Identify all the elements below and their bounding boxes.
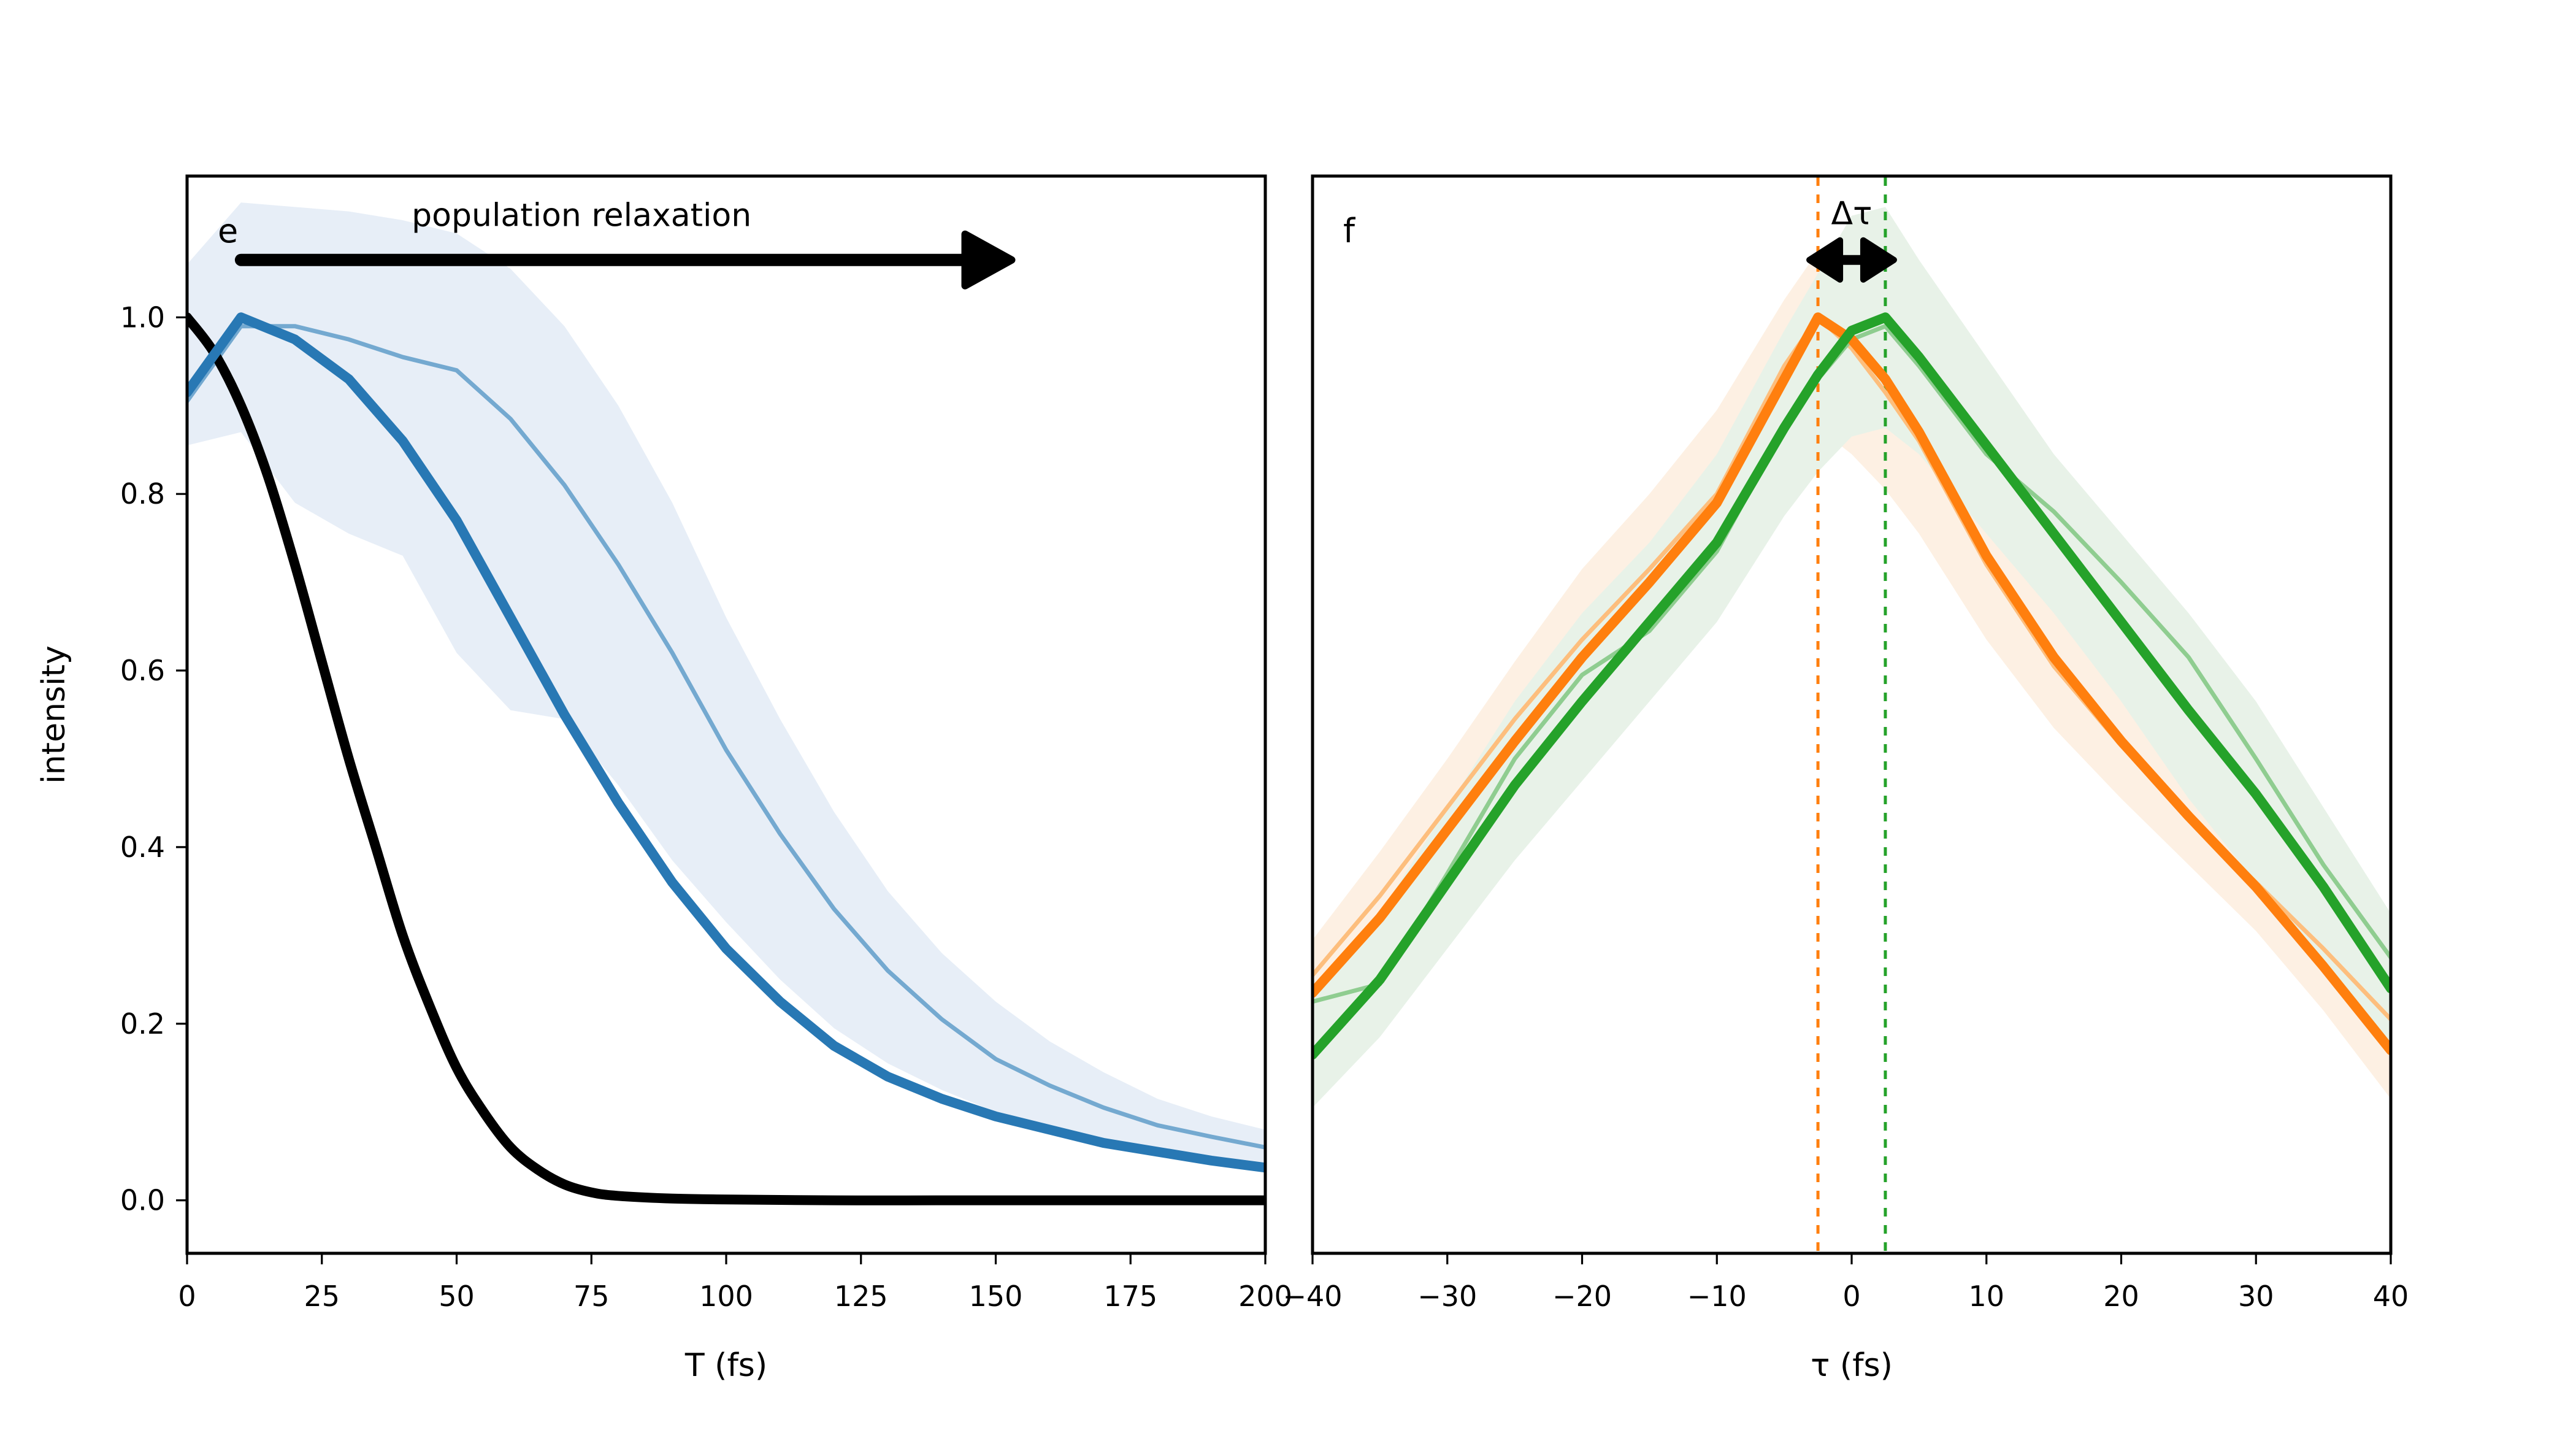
- y-tick-label: 0.8: [120, 477, 165, 510]
- x-tick-label: 75: [573, 1280, 610, 1313]
- x-axis-title-e: T (fs): [684, 1347, 767, 1384]
- x-tick-label: 100: [699, 1280, 753, 1313]
- x-tick-label: 125: [834, 1280, 888, 1313]
- y-tick-label: 1.0: [120, 301, 165, 334]
- y-tick-label: 0.0: [120, 1184, 165, 1217]
- x-tick-label: 30: [2238, 1280, 2274, 1313]
- figure-canvas: 02550751001251501752000.00.20.40.60.81.0…: [0, 0, 2576, 1449]
- x-tick-label: −10: [1687, 1280, 1747, 1313]
- x-tick-label: 50: [439, 1280, 475, 1313]
- figure-root: 02550751001251501752000.00.20.40.60.81.0…: [0, 0, 2576, 1449]
- x-axis-title-f: τ (fs): [1811, 1347, 1893, 1384]
- x-tick-label: 175: [1103, 1280, 1157, 1313]
- x-tick-label: 20: [2103, 1280, 2139, 1313]
- x-tick-label: 0: [1842, 1280, 1860, 1313]
- x-tick-label: 25: [304, 1280, 340, 1313]
- x-tick-label: 10: [1968, 1280, 2004, 1313]
- panel-letter-e: e: [218, 212, 238, 250]
- panel-letter-f: f: [1343, 212, 1356, 250]
- y-tick-label: 0.2: [120, 1007, 165, 1040]
- y-tick-label: 0.6: [120, 654, 165, 687]
- x-tick-label: 150: [969, 1280, 1023, 1313]
- x-tick-label: −20: [1552, 1280, 1612, 1313]
- delta-tau-label: Δτ: [1831, 196, 1873, 233]
- x-tick-label: −30: [1417, 1280, 1477, 1313]
- y-tick-label: 0.4: [120, 831, 165, 864]
- population-relaxation-label: population relaxation: [412, 198, 751, 234]
- y-axis-title-e: intensity: [36, 645, 72, 783]
- x-tick-label: −40: [1282, 1280, 1342, 1313]
- x-tick-label: 40: [2373, 1280, 2409, 1313]
- x-tick-label: 0: [178, 1280, 196, 1313]
